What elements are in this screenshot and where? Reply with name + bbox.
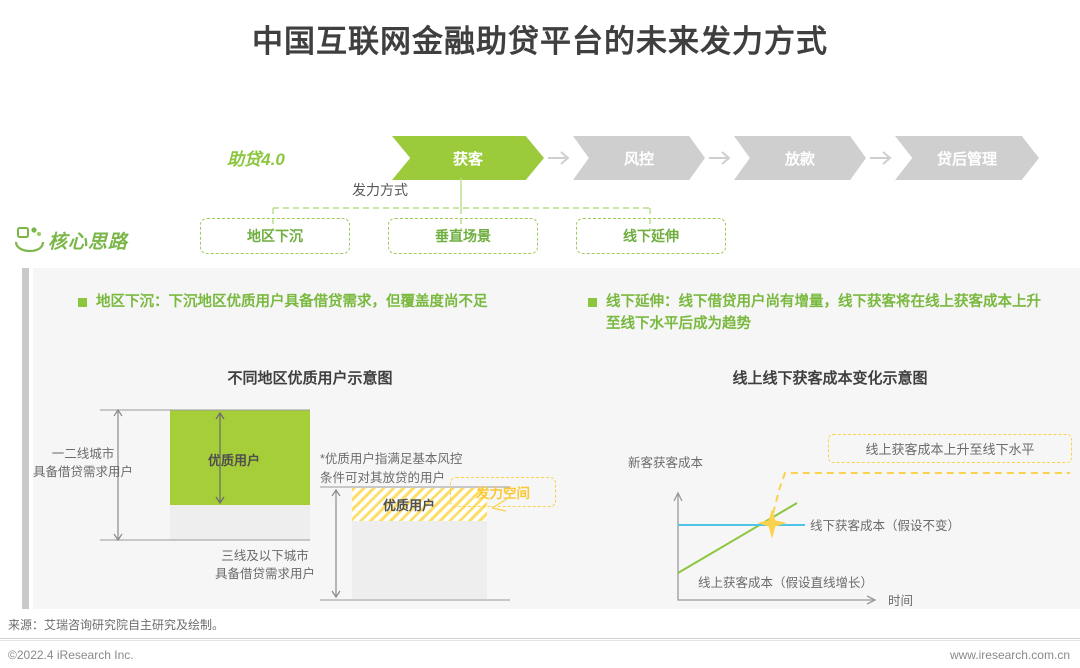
bar2-segment-label: 优质用户 xyxy=(383,495,435,514)
left-chart-title: 不同地区优质用户示意图 xyxy=(130,367,490,388)
copyright: ©2022.4 iResearch Inc. xyxy=(8,648,134,662)
website-url: www.iresearch.com.cn xyxy=(950,648,1070,662)
bullet-regional: 地区下沉：下沉地区优质用户具备借贷需求，但覆盖度尚不足 xyxy=(78,292,558,314)
flow-step-disbursement[interactable]: 放款 xyxy=(734,136,866,180)
bullet-offline: 线下延伸：线下借贷用户尚有增量，线下获客将在线上获客成本上升至线下水平后成为趋势 xyxy=(588,292,1043,336)
growth-space-callout: 发力空间 xyxy=(450,477,556,507)
slide-root: 中国互联网金融助贷平台的未来发力方式 助贷4.0 获客 风控 放款 贷后管理 xyxy=(0,0,1080,668)
x-axis-label: 时间 xyxy=(888,590,913,609)
flow-step-acquisition[interactable]: 获客 xyxy=(392,136,544,180)
core-idea-item-offline[interactable]: 线下延伸 xyxy=(576,218,726,254)
bar2-label: 三线及以下城市 具备借贷需求用户 xyxy=(190,547,340,583)
lightbulb-icon xyxy=(14,224,46,254)
source-note: 来源：艾瑞咨询研究院自主研究及绘制。 xyxy=(8,616,224,633)
core-idea-item-vertical[interactable]: 垂直场景 xyxy=(388,218,538,254)
flow-step-label: 贷后管理 xyxy=(937,148,997,169)
footer-divider xyxy=(0,638,1080,639)
core-idea-row: 核心思路 地区下沉 垂直场景 线下延伸 xyxy=(0,218,1080,262)
offline-cost-label: 线下获客成本（假设不变） xyxy=(810,515,960,534)
right-chart: 新客获客成本 时间 线下获客成本（假设不变） 线上获客成本（假设直线增长） 线上… xyxy=(600,395,1070,605)
bar1-label: 一二线城市 具备借贷需求用户 xyxy=(8,445,158,481)
flow-arrow-1-icon xyxy=(547,150,573,166)
intersection-star-icon xyxy=(757,509,787,539)
footer-divider-2 xyxy=(0,640,1080,641)
bullet-text: 地区下沉：下沉地区优质用户具备借贷需求，但覆盖度尚不足 xyxy=(96,292,488,314)
flow-step-label: 风控 xyxy=(624,148,654,169)
flow-step-post-loan[interactable]: 贷后管理 xyxy=(895,136,1039,180)
core-idea-item-label: 线下延伸 xyxy=(623,226,679,246)
bullet-text: 线下延伸：线下借贷用户尚有增量，线下获客将在线上获客成本上升至线下水平后成为趋势 xyxy=(606,292,1043,336)
growth-space-label: 发力空间 xyxy=(476,482,530,502)
core-idea-label: 核心思路 xyxy=(48,227,128,254)
core-idea-item-label: 地区下沉 xyxy=(247,226,303,246)
core-idea-item-regional[interactable]: 地区下沉 xyxy=(200,218,350,254)
page-title: 中国互联网金融助贷平台的未来发力方式 xyxy=(0,16,1080,61)
bar2-remainder-segment xyxy=(352,521,487,599)
panel-accent-bar xyxy=(22,268,29,609)
flow-arrow-2-icon xyxy=(708,150,734,166)
connector-label: 发力方式 xyxy=(325,180,435,200)
left-chart: 优质用户 优质用户 一二线城市 具备借贷需求用户 xyxy=(60,395,560,605)
flow-arrow-3-icon xyxy=(869,150,895,166)
bullet-square-icon xyxy=(588,298,597,307)
flow-stage-label: 助贷4.0 xyxy=(196,145,316,170)
y-axis-label: 新客获客成本 xyxy=(628,452,703,471)
core-idea-item-label: 垂直场景 xyxy=(435,226,491,246)
right-chart-title: 线上线下获客成本变化示意图 xyxy=(640,367,1020,388)
online-cost-label: 线上获客成本（假设直线增长） xyxy=(698,572,873,591)
process-flow: 助贷4.0 获客 风控 放款 贷后管理 xyxy=(0,136,1080,180)
flow-step-label: 放款 xyxy=(785,148,815,169)
flow-step-label: 获客 xyxy=(453,148,483,169)
bullet-square-icon xyxy=(78,298,87,307)
annotation-label: 线上获客成本上升至线下水平 xyxy=(865,439,1034,458)
flow-step-risk-control[interactable]: 风控 xyxy=(573,136,705,180)
cost-convergence-annotation: 线上获客成本上升至线下水平 xyxy=(828,434,1072,463)
